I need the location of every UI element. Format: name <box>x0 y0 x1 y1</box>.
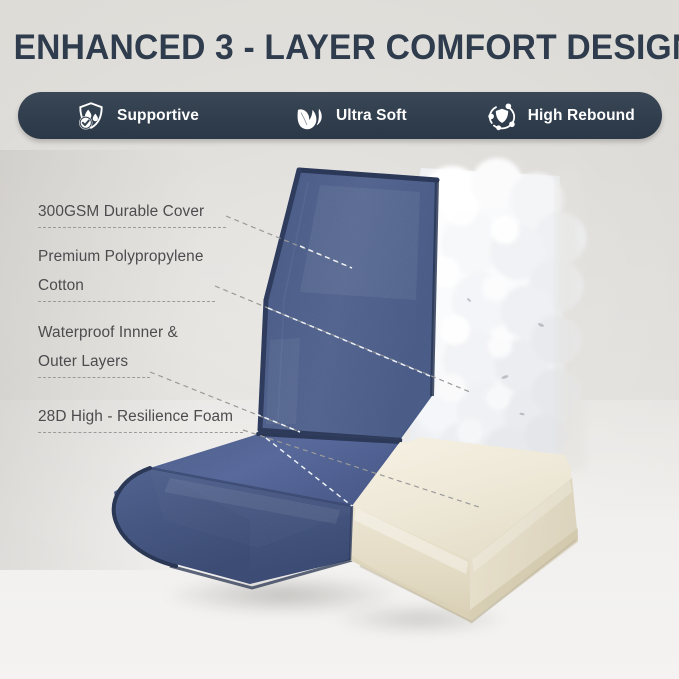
shield-molecule-icon <box>487 101 517 131</box>
callout-line: Waterproof Innner & <box>38 318 150 347</box>
shield-droplet-check-icon <box>76 101 106 131</box>
callout-line: Cotton <box>38 271 215 300</box>
callout-underline <box>38 377 150 378</box>
feature-badge-ultra-soft[interactable]: Ultra Soft <box>295 92 407 139</box>
feature-badge-label: Supportive <box>117 107 199 125</box>
callout-foam: 28D High - Resilience Foam <box>38 402 243 433</box>
infographic-canvas: ENHANCED 3 - LAYER COMFORT DESIGN Suppor… <box>0 0 679 679</box>
callout-line: Outer Layers <box>38 347 150 376</box>
callout-waterproof: Waterproof Innner & Outer Layers <box>38 318 150 378</box>
callout-underline <box>38 227 226 228</box>
callout-underline <box>38 301 215 302</box>
page-title: ENHANCED 3 - LAYER COMFORT DESIGN <box>14 28 666 68</box>
back-cushion <box>250 160 450 450</box>
feather-icon <box>295 101 325 131</box>
feature-badge-supportive[interactable]: Supportive <box>76 92 199 139</box>
callout-line: 300GSM Durable Cover <box>38 197 226 226</box>
callout-cover: 300GSM Durable Cover <box>38 197 226 228</box>
feature-badge-label: High Rebound <box>528 107 635 125</box>
feature-badge-label: Ultra Soft <box>336 107 407 125</box>
feature-bar: Supportive Ultra Soft High Rebound <box>18 92 662 139</box>
callout-cotton: Premium Polypropylene Cotton <box>38 242 215 302</box>
callout-line: 28D High - Resilience Foam <box>38 402 243 431</box>
feature-badge-high-rebound[interactable]: High Rebound <box>487 92 635 139</box>
callout-underline <box>38 432 243 433</box>
callout-line: Premium Polypropylene <box>38 242 215 271</box>
